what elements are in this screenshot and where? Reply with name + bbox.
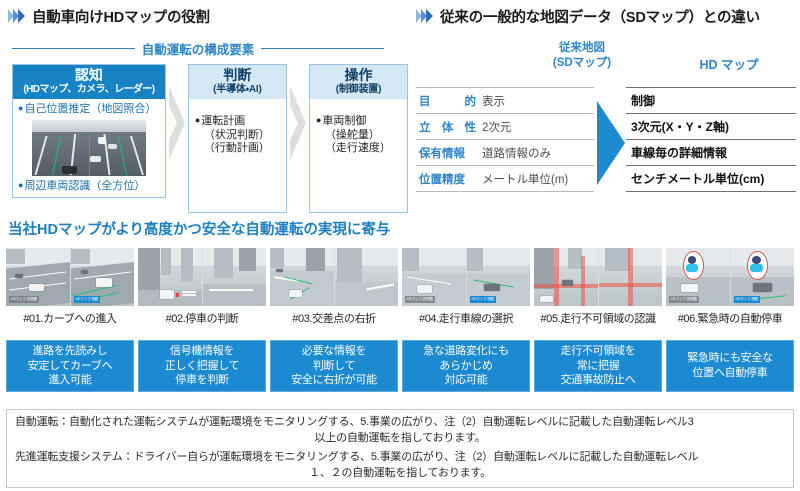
benefit-line: 安定してカーブへ bbox=[28, 359, 113, 374]
benefit-line: 常に把握 bbox=[577, 359, 620, 374]
label-char: 性 bbox=[465, 119, 477, 135]
flow-header-judgement: 判断 (半導体・AI) bbox=[189, 65, 286, 99]
scene-no-drive-zone bbox=[534, 248, 598, 306]
scene-road bbox=[203, 284, 267, 306]
flow-body-control: ●車両制御 （操舵量） （走行速度） bbox=[310, 99, 407, 212]
scene-vehicle bbox=[81, 270, 89, 274]
benefit-line: 信号機情報を bbox=[170, 344, 234, 359]
scene-vehicle bbox=[96, 278, 113, 287]
middle-heading: 当社HDマップがより高度かつ安全な自動運転の実現に寄与 bbox=[8, 218, 390, 239]
left-heading-text: 自動車向けHDマップの役割 bbox=[32, 6, 210, 27]
scene-without-hdmap: HDマップ 非搭載 bbox=[666, 248, 730, 306]
benefit-line: 判断して bbox=[313, 359, 355, 374]
scene-building bbox=[402, 248, 419, 271]
rule-hd-bottom bbox=[626, 191, 796, 192]
scene-with-hdmap: HDマップ 搭載 bbox=[71, 248, 135, 306]
sd-vs-hd-comparison-section: 従来の一般的な地図データ（SDマップ）との違い 従来地図 (SDマップ) HD … bbox=[416, 6, 796, 192]
use-case-02[interactable]: #02.停車の判断 bbox=[138, 248, 266, 326]
hdmap-off-tag: HDマップ 非搭載 bbox=[9, 296, 39, 303]
row-hd-dimension: 3次元(X・Y・Z軸) bbox=[626, 113, 796, 139]
control-bullet-text: 車両制御 bbox=[322, 115, 366, 127]
flow-arrow-1-icon bbox=[166, 64, 188, 182]
scene-restricted-area bbox=[554, 248, 559, 306]
scene-building bbox=[214, 248, 233, 278]
benefit-box-06[interactable]: 緊急時にも安全な 位置へ自動停車 bbox=[666, 340, 794, 392]
highway-road-photo bbox=[32, 120, 146, 176]
scene-building bbox=[161, 248, 171, 275]
left-subheading-text: 自動運転の構成要素 bbox=[142, 39, 255, 58]
use-case-06-image: HDマップ 非搭載 HDマップ 搭載 bbox=[666, 248, 794, 306]
row-hd-contained-info: 車線毎の詳細情報 bbox=[626, 139, 796, 165]
row-hd-accuracy: センチメートル単位(cm) bbox=[626, 165, 796, 191]
use-case-benefit-boxes: 進路を先読みし 安定してカーブへ 進入可能 信号機情報を 正しく把握して 停車を… bbox=[6, 340, 796, 392]
use-case-03-caption: #03.交差点の右折 bbox=[270, 310, 398, 326]
scene-vehicle bbox=[484, 284, 499, 292]
scene-without-hdmap: HDマップ 非搭載 bbox=[6, 248, 70, 306]
right-section-heading: 従来の一般的な地図データ（SDマップ）との違い bbox=[416, 6, 796, 27]
flow-subtitle-perception: (HDマップ、カメラ、レーダー) bbox=[14, 84, 164, 95]
bullet-dot-icon: ● bbox=[18, 103, 23, 113]
hdmap-on-tag: HDマップ 搭載 bbox=[734, 296, 761, 303]
table-bottom-rules bbox=[416, 191, 796, 192]
row-label-dimension: 立 体 性 bbox=[416, 113, 478, 139]
driver-body-icon bbox=[750, 264, 763, 272]
benefit-box-01[interactable]: 進路を先読みし 安定してカーブへ 進入可能 bbox=[6, 340, 134, 392]
row-hd-purpose: 制御 bbox=[626, 87, 796, 113]
hdmap-on-tag: HDマップ 搭載 bbox=[74, 296, 101, 303]
footnote-2-line2: １、２の自動運転を指しております。 bbox=[15, 466, 785, 482]
use-case-01-image: HDマップ 非搭載 HDマップ 搭載 bbox=[6, 248, 134, 306]
use-case-04-caption: #04.走行車線の選択 bbox=[402, 310, 530, 326]
label-char: 体 bbox=[442, 119, 454, 135]
bullet-dot-icon: ● bbox=[18, 180, 23, 190]
use-case-06-caption: #06.緊急時の自動停車 bbox=[666, 310, 794, 326]
benefit-line: 緊急時にも安全な bbox=[687, 351, 773, 366]
rule-left bbox=[12, 48, 135, 49]
sd-map-column-title: 従来地図 (SDマップ) bbox=[522, 41, 642, 71]
scene-intersection bbox=[270, 248, 334, 306]
triangle-bullet-icon bbox=[8, 9, 25, 24]
flow-body-judgement: ●運転計画 （状況判断） （行動計画） bbox=[189, 99, 286, 212]
footnote-2-line1: 先進運転支援システム：ドライバー自らが運転環境をモニタリングする、5.事業の広が… bbox=[15, 451, 698, 463]
flow-column-control: 操作 (制御装置) ●車両制御 （操舵量） （走行速度） bbox=[309, 64, 408, 213]
footnote-adas: 先進運転支援システム：ドライバー自らが運転環境をモニタリングする、5.事業の広が… bbox=[15, 450, 785, 481]
scene-with-hdmap: HDマップ 搭載 bbox=[731, 248, 795, 306]
comparison-column-titles: 従来地図 (SDマップ) HD マップ bbox=[416, 41, 796, 87]
benefit-line: 停車を判断 bbox=[175, 373, 229, 388]
scene-building bbox=[467, 248, 484, 271]
control-bullet: ●車両制御 bbox=[316, 115, 401, 129]
benefit-line: 走行不可領域を bbox=[561, 344, 636, 359]
photo-green-lane-2 bbox=[89, 135, 90, 176]
benefit-line: 急な道路変化にも bbox=[423, 344, 509, 359]
benefit-line: あらかじめ bbox=[439, 359, 493, 374]
scene-vehicle bbox=[29, 284, 44, 292]
use-case-03-image bbox=[270, 248, 398, 306]
hdmap-on-tag: HDマップ 搭載 bbox=[470, 296, 497, 303]
scene-building bbox=[138, 248, 160, 291]
flow-body-perception: ●自己位置推定（地図照合） bbox=[13, 99, 165, 198]
use-case-01[interactable]: HDマップ 非搭載 HDマップ 搭載 #01.カーブへの進入 bbox=[6, 248, 134, 326]
flow-subtitle-judgement: (半導体・AI) bbox=[190, 84, 285, 95]
label-char: 目 bbox=[419, 93, 431, 109]
footnote-1-line1: 自動運転：自動化された運転システムが運転環境をモニタリングする、5.事業の広がり… bbox=[15, 416, 694, 428]
sd-map-title-line2: (SDマップ) bbox=[522, 56, 642, 71]
benefit-line: 進入可能 bbox=[49, 373, 92, 388]
benefit-line: 必要な情報を bbox=[302, 344, 366, 359]
benefit-line: 位置へ自動停車 bbox=[693, 366, 768, 381]
perception-bullet-top-text: 自己位置推定（地図照合） bbox=[24, 103, 156, 115]
scene-crosswalk bbox=[182, 294, 196, 296]
perception-bullet-top: ●自己位置推定（地図照合） bbox=[18, 103, 160, 117]
scene-building bbox=[605, 248, 630, 271]
flow-header-perception: 認知 (HDマップ、カメラ、レーダー) bbox=[13, 65, 165, 99]
use-case-01-caption: #01.カーブへの進入 bbox=[6, 310, 134, 326]
scene-building bbox=[337, 248, 362, 284]
hdmap-off-tag: HDマップ 非搭載 bbox=[669, 296, 699, 303]
flow-subtitle-control: (制御装置) bbox=[311, 84, 406, 95]
scene-vehicle bbox=[562, 280, 573, 286]
triangle-bullet-icon bbox=[416, 9, 433, 24]
scene-restricted-area bbox=[628, 248, 634, 306]
judgement-bullet-text: 運転計画 bbox=[201, 115, 245, 127]
perception-bullet-bottom: ●周辺車両認識（全方位） bbox=[18, 180, 160, 194]
scene-restricted-area bbox=[599, 283, 663, 288]
label-char: 保有情報 bbox=[419, 145, 465, 161]
use-case-05[interactable]: #05.走行不可領域の認識 bbox=[534, 248, 662, 326]
rule-sd-bottom bbox=[416, 191, 594, 192]
comparison-table: 目 的 表示 制御 立 体 性 2次元 3次元(X・Y・Z軸) 保有情報 道路情… bbox=[416, 87, 796, 192]
flow-title-judgement: 判断 bbox=[190, 68, 285, 84]
benefit-box-02[interactable]: 信号機情報を 正しく把握して 停車を判断 bbox=[138, 340, 266, 392]
benefit-line: 対応可能 bbox=[445, 373, 488, 388]
use-case-03[interactable]: #03.交差点の右折 bbox=[270, 248, 398, 326]
footnote-1-line2: 以上の自動運転を指しております。 bbox=[15, 431, 785, 447]
label-char: 的 bbox=[465, 93, 477, 109]
rule-gap bbox=[594, 191, 626, 192]
hd-map-role-section: 自動車向けHDマップの役割 自動運転の構成要素 認知 (HDマップ、カメラ、レー… bbox=[8, 6, 408, 213]
benefit-box-05[interactable]: 走行不可領域を 常に把握 交通事故防止へ bbox=[534, 340, 662, 392]
scene-building bbox=[270, 248, 284, 268]
scene-vehicle bbox=[15, 274, 23, 279]
rule-right bbox=[261, 48, 384, 49]
scene-building bbox=[534, 248, 554, 289]
judgement-subline-2: （行動計画） bbox=[204, 142, 280, 156]
scene-vehicle bbox=[417, 285, 432, 293]
scene-vehicle bbox=[276, 269, 282, 272]
scene-city-street-right bbox=[203, 248, 267, 306]
benefit-box-03[interactable]: 必要な情報を 判断して 安全に右折が可能 bbox=[270, 340, 398, 392]
judgement-bullet: ●運転計画 bbox=[195, 115, 280, 129]
scene-vehicle bbox=[753, 283, 772, 292]
row-label-contained-info: 保有情報 bbox=[416, 139, 478, 165]
scene-traffic-light bbox=[176, 293, 179, 297]
flow-column-perception: 認知 (HDマップ、カメラ、レーダー) ●自己位置推定（地図照合） bbox=[12, 64, 166, 198]
photo-car-white-2 bbox=[108, 144, 117, 149]
scene-vehicle bbox=[160, 290, 174, 299]
scene-restricted-area bbox=[581, 256, 585, 306]
scene-crosswalk bbox=[182, 291, 196, 293]
row-sd-purpose: 表示 bbox=[478, 87, 594, 113]
bullet-dot-icon: ● bbox=[316, 115, 321, 125]
use-case-05-caption: #05.走行不可領域の認識 bbox=[534, 310, 662, 326]
autonomous-driving-flow: 認知 (HDマップ、カメラ、レーダー) ●自己位置推定（地図照合） bbox=[12, 64, 408, 213]
flow-arrow-2-icon bbox=[287, 64, 309, 182]
row-sd-dimension: 2次元 bbox=[478, 113, 594, 139]
control-subline-1: （操舵量） bbox=[325, 129, 401, 143]
hd-map-column-title: HD マップ bbox=[669, 54, 789, 73]
benefit-line: 正しく把握して bbox=[165, 359, 240, 374]
left-section-heading: 自動車向けHDマップの役割 bbox=[8, 6, 408, 27]
flow-header-control: 操作 (制御装置) bbox=[310, 65, 407, 99]
scene-building bbox=[6, 249, 25, 264]
row-sd-contained-info: 道路情報のみ bbox=[478, 139, 594, 165]
scene-vehicle bbox=[681, 284, 698, 292]
use-case-04-image: HDマップ 非搭載 HDマップ 搭載 bbox=[402, 248, 530, 306]
footnotes-box: 自動運転：自動化された運転システムが運転環境をモニタリングする、5.事業の広がり… bbox=[6, 409, 794, 488]
driver-body-icon bbox=[686, 264, 699, 272]
photo-car-dark bbox=[62, 166, 77, 174]
benefit-box-04[interactable]: 急な道路変化にも あらかじめ 対応可能 bbox=[402, 340, 530, 392]
use-case-02-caption: #02.停車の判断 bbox=[138, 310, 266, 326]
row-label-purpose: 目 的 bbox=[416, 87, 478, 113]
use-case-06[interactable]: HDマップ 非搭載 HDマップ 搭載 #06.緊急時の自動停車 bbox=[666, 248, 794, 326]
use-case-04[interactable]: HDマップ 非搭載 HDマップ 搭載 #04.走行車線の選択 bbox=[402, 248, 530, 326]
photo-sky bbox=[32, 120, 146, 132]
use-case-thumbnail-strip: HDマップ 非搭載 HDマップ 搭載 #01.カーブへの進入 bbox=[6, 248, 796, 326]
right-heading-text: 従来の一般的な地図データ（SDマップ）との違い bbox=[440, 6, 760, 27]
scene-intersection-right bbox=[335, 248, 399, 306]
scene-building bbox=[71, 249, 90, 264]
benefit-line: 進路を先読みし bbox=[33, 344, 108, 359]
scene-crosswalk bbox=[209, 289, 253, 291]
label-char: 位置精度 bbox=[419, 171, 465, 187]
scene-without-hdmap: HDマップ 非搭載 bbox=[402, 248, 466, 306]
scene-vehicle bbox=[289, 290, 302, 298]
perception-bullet-bottom-text: 周辺車両認識（全方位） bbox=[24, 180, 145, 192]
row-label-accuracy: 位置精度 bbox=[416, 165, 478, 191]
row-sd-accuracy: メートル単位(m) bbox=[478, 165, 594, 191]
scene-city-street bbox=[138, 248, 202, 306]
scene-building bbox=[239, 248, 256, 271]
label-char: 立 bbox=[419, 119, 431, 135]
bullet-dot-icon: ● bbox=[195, 115, 200, 125]
comparison-arrow-icon bbox=[594, 95, 628, 191]
flow-title-perception: 認知 bbox=[14, 68, 164, 84]
left-subheading: 自動運転の構成要素 bbox=[12, 39, 384, 58]
flow-column-judgement: 判断 (半導体・AI) ●運転計画 （状況判断） （行動計画） bbox=[188, 64, 287, 213]
sd-map-title-line1: 従来地図 bbox=[522, 41, 642, 56]
flow-title-control: 操作 bbox=[311, 68, 406, 84]
control-subline-2: （走行速度） bbox=[325, 142, 401, 156]
hdmap-off-tag: HDマップ 非搭載 bbox=[405, 296, 435, 303]
scene-vehicle bbox=[540, 296, 553, 302]
photo-car-white-1 bbox=[90, 156, 101, 162]
photo-truck bbox=[98, 137, 106, 144]
benefit-line: 安全に右折が可能 bbox=[291, 373, 377, 388]
scene-no-drive-zone-right bbox=[599, 248, 663, 306]
use-case-05-image bbox=[534, 248, 662, 306]
footnote-autonomous-driving: 自動運転：自動化された運転システムが運転環境をモニタリングする、5.事業の広がり… bbox=[15, 415, 785, 446]
use-case-02-image bbox=[138, 248, 266, 306]
scene-with-hdmap: HDマップ 搭載 bbox=[467, 248, 531, 306]
scene-building bbox=[181, 248, 192, 282]
benefit-line: 交通事故防止へ bbox=[561, 373, 636, 388]
judgement-subline-1: （状況判断） bbox=[204, 129, 280, 143]
